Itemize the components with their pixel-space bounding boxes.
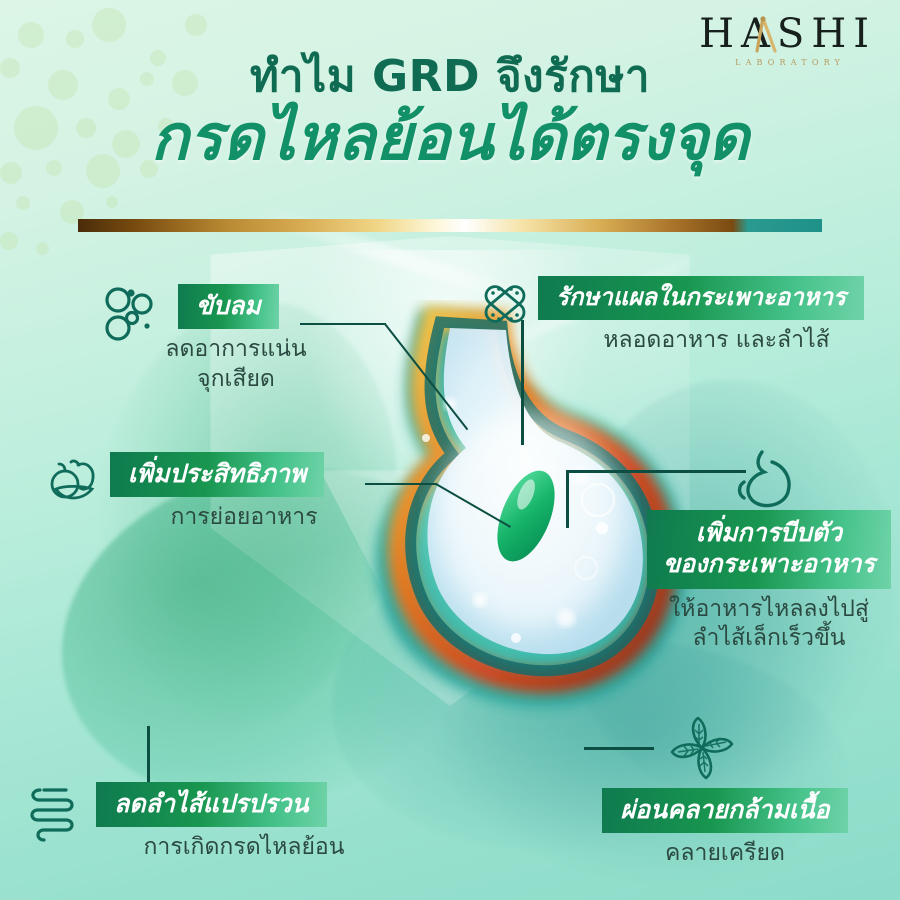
callout-expel-gas[interactable]: ขับลม ลดอาการแน่น จุกเสียด xyxy=(108,284,338,395)
gradient-divider xyxy=(78,219,822,232)
decor-bubble xyxy=(16,196,30,210)
callout-subtitle-line: หลอดอาหาร และลำไส้ xyxy=(538,326,895,356)
callout-title: ผ่อนคลายกล้ามเนื้อ xyxy=(602,788,847,833)
callout-subtitle-line: ลดอาการแน่น xyxy=(134,335,338,365)
fruits-icon xyxy=(48,456,104,506)
page-title: ทำไม GRD จึงรักษา กรดไหลย้อนได้ตรงจุด xyxy=(0,52,900,175)
callout-heal-ulcer[interactable]: รักษาแผลในกระเพาะอาหาร หลอดอาหาร และลำไส… xyxy=(480,276,895,356)
decor-bubble xyxy=(106,196,118,208)
title-line-2: กรดไหลย้อนได้ตรงจุด xyxy=(0,101,900,175)
decor-bubble xyxy=(66,30,84,48)
callout-title: ลดลำไส้แปรปรวน xyxy=(96,782,327,827)
decor-bubble xyxy=(18,22,44,48)
decor-bubble xyxy=(36,242,49,255)
callout-subtitle-line: ให้อาหารไหลลงไปสู่ xyxy=(640,595,898,625)
callout-subtitle-line: การเกิดกรดไหลย้อน xyxy=(96,833,392,863)
callout-title: เพิ่มประสิทธิภาพ xyxy=(110,452,324,497)
callout-subtitle-line: จุกเสียด xyxy=(134,365,338,395)
callout-relax-muscle[interactable]: ผ่อนคลายกล้ามเนื้อ คลายเครียด xyxy=(560,714,890,869)
title-line-1: ทำไม GRD จึงรักษา xyxy=(0,52,900,103)
stomach-outline-icon xyxy=(734,448,800,508)
callout-increase-peristalsis[interactable]: เพิ่มการบีบตัว ของกระเพาะอาหาร ให้อาหารไ… xyxy=(640,448,898,654)
decor-bubble xyxy=(92,8,126,42)
connector-line xyxy=(147,726,150,784)
intestine-icon xyxy=(22,782,84,846)
callout-title: เพิ่มการบีบตัว ของกระเพาะอาหาร xyxy=(647,510,891,589)
callout-title: รักษาแผลในกระเพาะอาหาร xyxy=(538,276,864,320)
decor-bubble xyxy=(0,232,18,250)
bandage-cross-icon xyxy=(480,280,530,328)
callout-title-line: ของกระเพาะอาหาร xyxy=(663,549,875,578)
infographic-canvas: HASHI LABORATORY ทำไม GRD จึงรักษา กรดไห… xyxy=(0,0,900,900)
mint-leaves-icon xyxy=(666,714,738,784)
brand-name: HASHI xyxy=(699,14,876,54)
connector-line xyxy=(566,470,569,528)
callout-title: ขับลม xyxy=(178,284,279,329)
callout-subtitle-line: ลำไส้เล็กเร็วขึ้น xyxy=(640,624,898,654)
callout-improve-digestion[interactable]: เพิ่มประสิทธิภาพ การย่อยอาหาร xyxy=(48,452,378,533)
decor-bubble xyxy=(185,14,207,36)
chopsticks-icon xyxy=(750,15,784,53)
bubbles-icon xyxy=(102,286,160,342)
callout-reduce-ibs[interactable]: ลดลำไส้แปรปรวน การเกิดกรดไหลย้อน xyxy=(22,782,392,863)
callout-subtitle-line: คลายเครียด xyxy=(560,839,890,869)
callout-subtitle-line: การย่อยอาหาร xyxy=(110,503,378,533)
callout-title-line: เพิ่มการบีบตัว xyxy=(696,518,842,547)
